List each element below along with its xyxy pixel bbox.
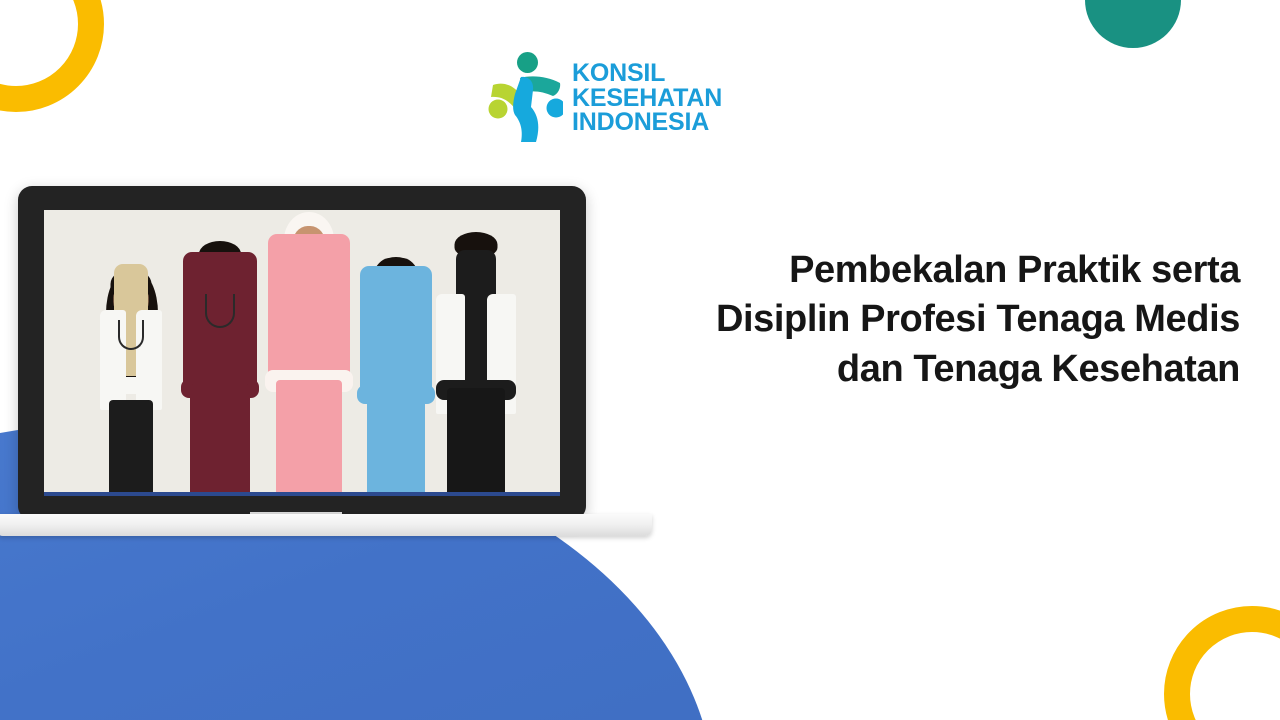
logo-konsil-kesehatan-indonesia: KONSIL KESEHATAN INDONESIA: [487, 48, 737, 148]
yellow-ring-arc-top-left: [0, 0, 104, 112]
page-title-line-3: dan Tenaga Kesehatan: [620, 345, 1240, 394]
slide-canvas: KONSIL KESEHATAN INDONESIA: [0, 0, 1280, 720]
person-dokter-laki-laki: [422, 228, 530, 496]
teal-half-circle-top-right: [1085, 0, 1181, 48]
yellow-ring-arc-bottom-right: [1164, 606, 1280, 720]
page-title-line-2: Disiplin Profesi Tenaga Medis: [620, 295, 1240, 344]
laptop-screen: [44, 210, 560, 496]
page-title: Pembekalan Praktik serta Disiplin Profes…: [620, 246, 1240, 394]
logo-wordmark: KONSIL KESEHATAN INDONESIA: [572, 61, 722, 135]
page-title-line-1: Pembekalan Praktik serta: [620, 246, 1240, 295]
logo-line-3: INDONESIA: [572, 110, 722, 135]
laptop-base: [0, 514, 652, 536]
photo-healthcare-team: [44, 210, 560, 496]
logo-mark-icon: [487, 52, 563, 144]
laptop-mockup: [14, 186, 634, 546]
laptop-lid: [18, 186, 586, 520]
logo-line-1: KONSIL: [572, 61, 722, 86]
logo-line-2: KESEHATAN: [572, 86, 722, 111]
